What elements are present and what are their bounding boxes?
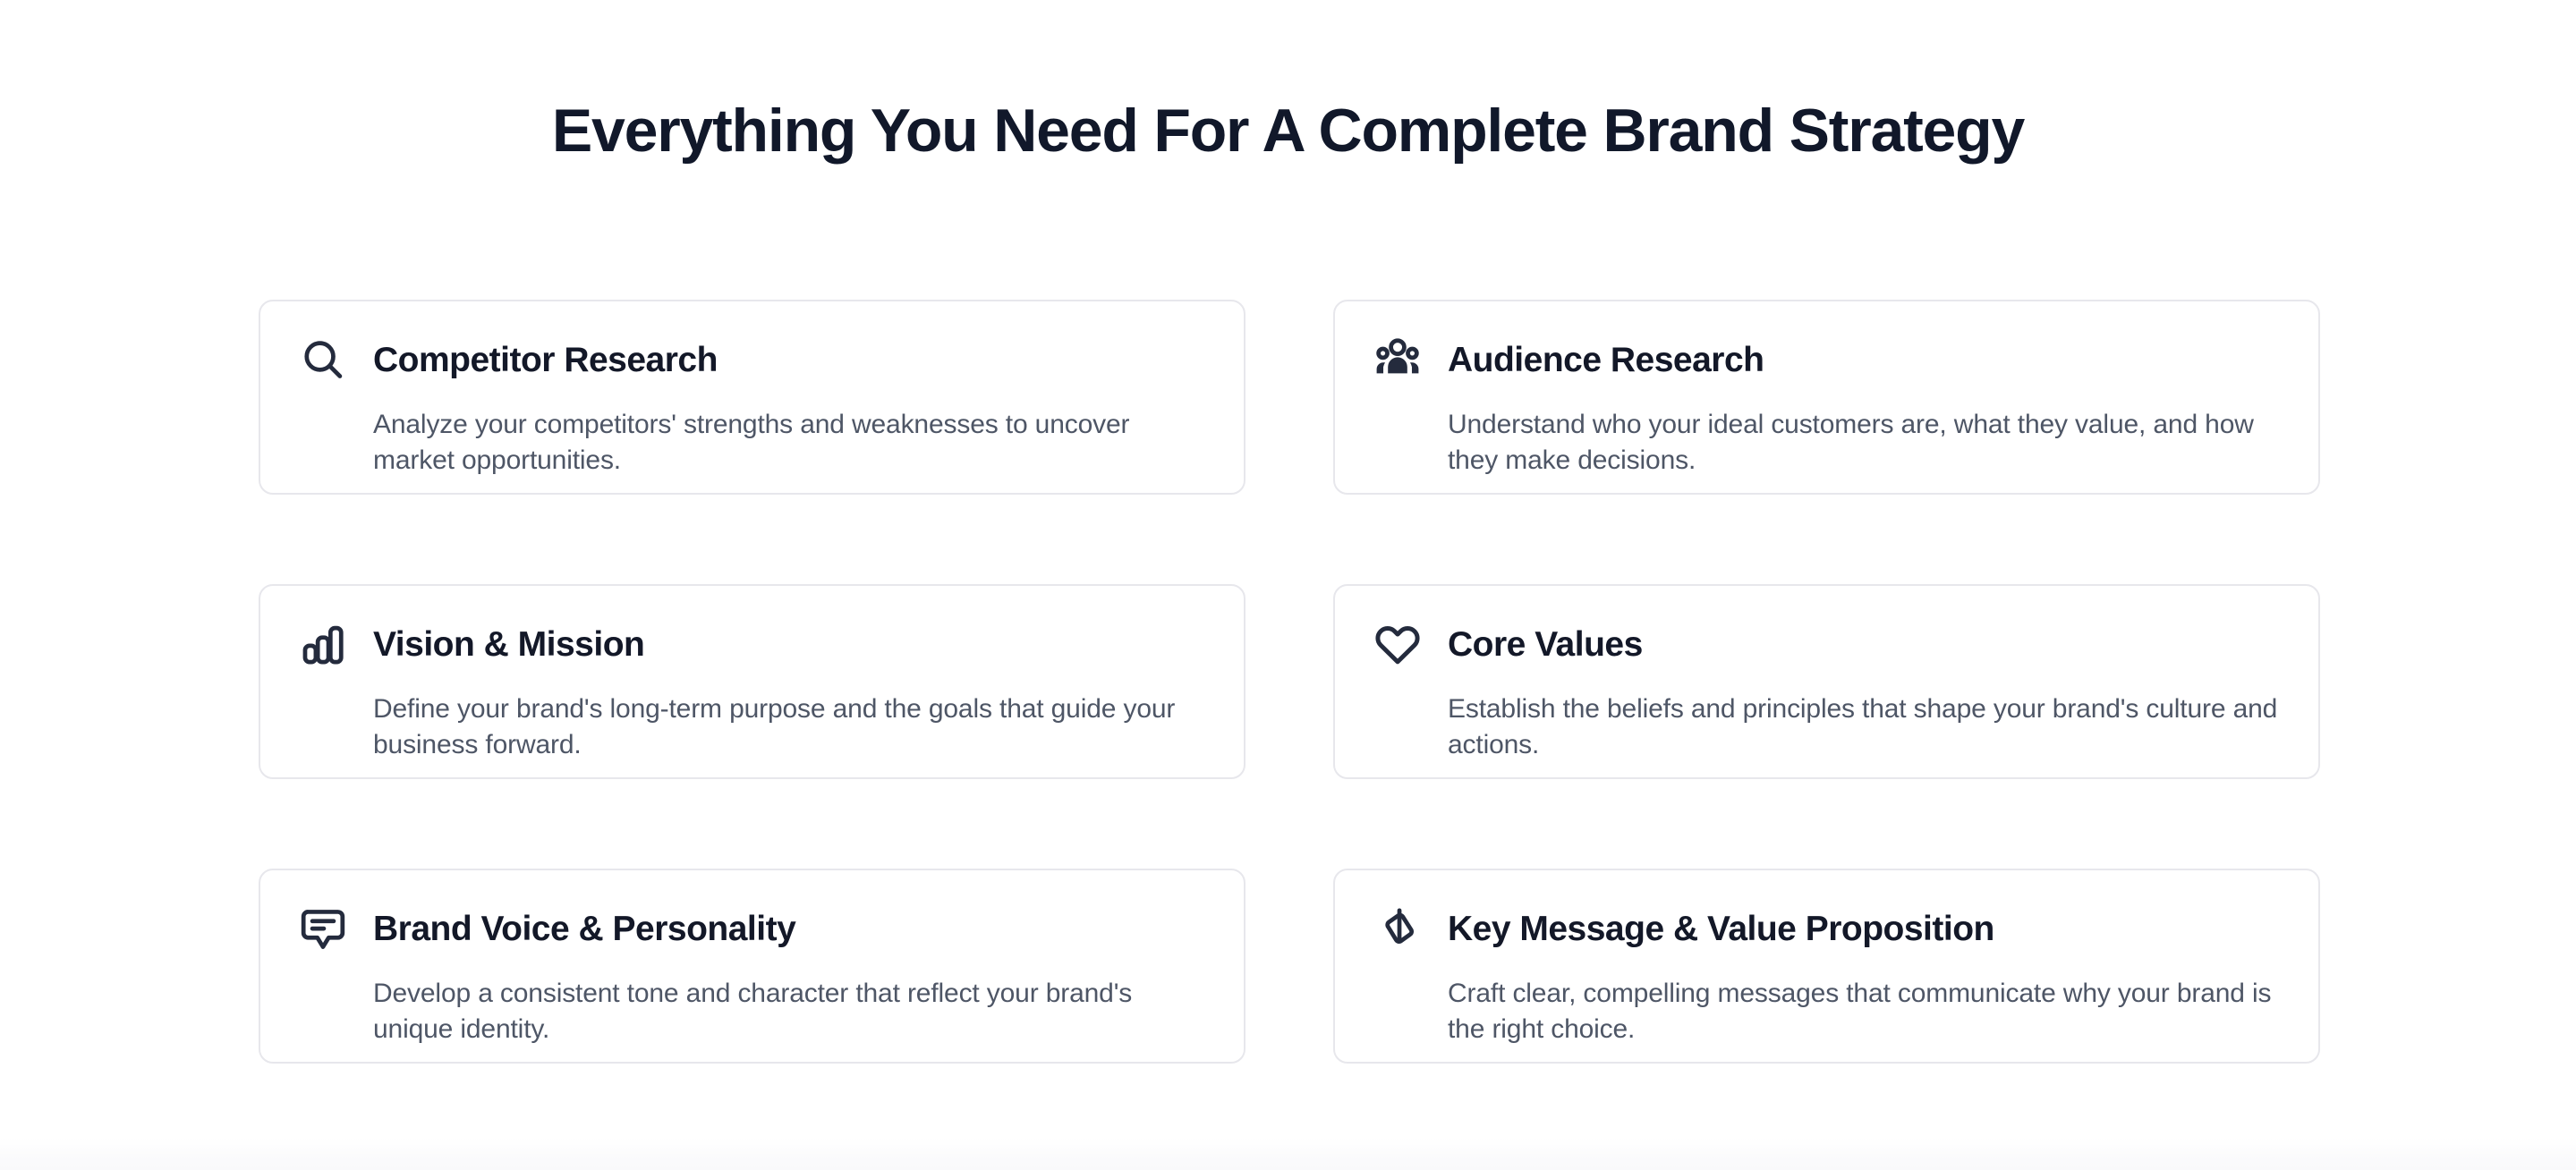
- card-title: Vision & Mission: [373, 618, 644, 670]
- card-description: Craft clear, compelling messages that co…: [1448, 976, 2283, 1047]
- bar-chart-icon: [296, 618, 350, 672]
- card-title: Key Message & Value Proposition: [1448, 903, 1994, 954]
- card-header: Key Message & Value Proposition: [1371, 903, 2283, 969]
- card-title: Competitor Research: [373, 334, 718, 386]
- chat-bubble-icon: [296, 903, 350, 956]
- card-description: Analyze your competitors' strengths and …: [373, 407, 1208, 479]
- feature-cards-grid: Competitor Research Analyze your competi…: [259, 300, 2320, 1064]
- card-header: Audience Research: [1371, 334, 2283, 400]
- feature-card-key-message[interactable]: Key Message & Value Proposition Craft cl…: [1333, 869, 2320, 1064]
- feature-card-vision-mission[interactable]: Vision & Mission Define your brand's lon…: [259, 584, 1245, 779]
- pen-nib-icon: [1371, 903, 1424, 956]
- card-description: Establish the beliefs and principles tha…: [1448, 691, 2283, 763]
- search-icon: [296, 334, 350, 387]
- card-description: Define your brand's long-term purpose an…: [373, 691, 1208, 763]
- card-title: Core Values: [1448, 618, 1643, 670]
- card-header: Core Values: [1371, 618, 2283, 684]
- card-title: Brand Voice & Personality: [373, 903, 795, 954]
- feature-section-page: Everything You Need For A Complete Brand…: [0, 0, 2576, 1170]
- section-divider-band: [0, 1138, 2576, 1170]
- feature-card-competitor-research[interactable]: Competitor Research Analyze your competi…: [259, 300, 1245, 495]
- heart-icon: [1371, 618, 1424, 672]
- page-title: Everything You Need For A Complete Brand…: [0, 97, 2576, 165]
- card-description: Understand who your ideal customers are,…: [1448, 407, 2283, 479]
- card-header: Competitor Research: [296, 334, 1208, 400]
- card-header: Vision & Mission: [296, 618, 1208, 684]
- card-title: Audience Research: [1448, 334, 1764, 386]
- feature-card-brand-voice[interactable]: Brand Voice & Personality Develop a cons…: [259, 869, 1245, 1064]
- users-group-icon: [1371, 334, 1424, 387]
- feature-card-audience-research[interactable]: Audience Research Understand who your id…: [1333, 300, 2320, 495]
- card-header: Brand Voice & Personality: [296, 903, 1208, 969]
- card-description: Develop a consistent tone and character …: [373, 976, 1208, 1047]
- feature-card-core-values[interactable]: Core Values Establish the beliefs and pr…: [1333, 584, 2320, 779]
